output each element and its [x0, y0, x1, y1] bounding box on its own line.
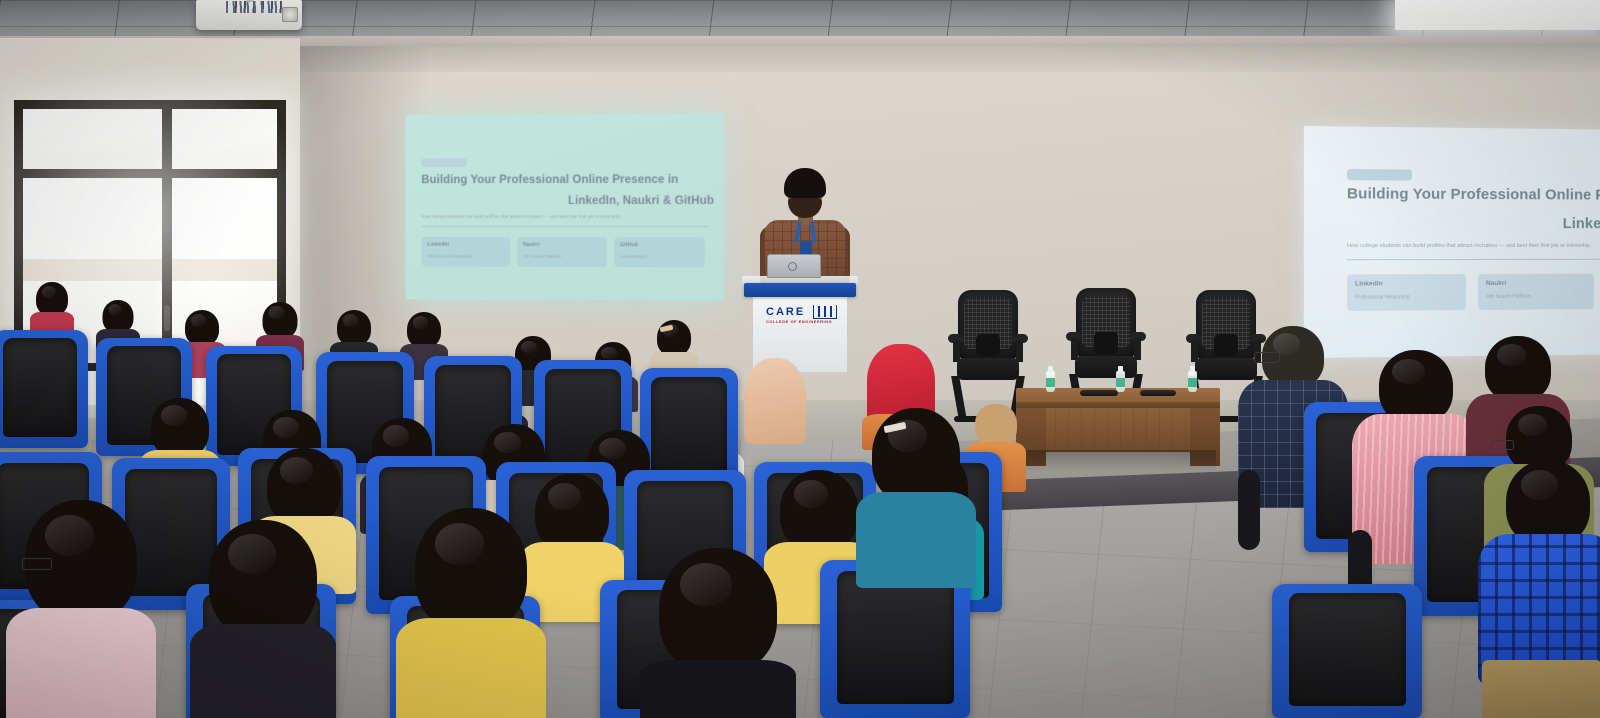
trousers	[1482, 660, 1600, 718]
audience-member-blue-plaid	[1478, 460, 1600, 718]
slide-card-title: GitHub	[620, 242, 638, 248]
head	[151, 398, 209, 458]
podium-blue-band	[744, 283, 856, 297]
college-name: CARE	[766, 306, 805, 318]
bottle-cap	[1048, 366, 1053, 372]
slide-card-title: Naukri	[1486, 280, 1506, 287]
speaker-beard	[788, 198, 822, 218]
window-mullion-horizontal	[23, 169, 277, 178]
chair-seat	[1075, 356, 1137, 378]
slide-badge	[421, 158, 466, 167]
projected-slide-left: Building Your Professional Online Presen…	[406, 113, 724, 301]
window-pane	[23, 109, 162, 169]
head	[407, 312, 441, 348]
projector-lens-icon	[282, 7, 298, 22]
slide-title-line2: LinkedIn, Naukri & GitHub	[568, 195, 714, 207]
audience-member	[190, 520, 336, 718]
window-handle[interactable]	[164, 305, 170, 331]
head	[263, 302, 298, 339]
chair-lumbar-support	[976, 334, 1000, 356]
slide-card-desc: Professional Networking	[427, 254, 472, 259]
eyeglasses	[1490, 440, 1514, 450]
head	[659, 548, 777, 674]
head	[267, 448, 341, 526]
microphone[interactable]	[1080, 390, 1118, 396]
slide-divider	[1347, 259, 1600, 261]
head	[872, 408, 960, 504]
slide-card-desc: Professional Networking	[1355, 294, 1410, 300]
head	[209, 520, 317, 638]
slide-card-title: Naukri	[523, 242, 540, 248]
slide-card-title: LinkedIn	[427, 242, 449, 248]
ceiling-projector	[196, 0, 302, 30]
chair-seat	[957, 358, 1019, 380]
table-shadow	[1020, 450, 1216, 472]
audience-member-peach-hijab	[740, 358, 810, 454]
building-icon	[813, 305, 837, 319]
window-pane	[171, 109, 277, 169]
window-frost-band	[23, 259, 277, 281]
slide-divider	[421, 226, 709, 227]
bottle-label	[1116, 378, 1125, 387]
wall-soffit	[300, 46, 1600, 72]
slide-card-desc: Job Search Platform	[523, 254, 561, 259]
chair-armrest	[1238, 470, 1260, 550]
slide-card-desc: Code Portfolio	[620, 254, 647, 259]
stage-table	[1016, 388, 1220, 474]
water-bottle[interactable]	[1046, 366, 1055, 392]
speaker-hair	[784, 168, 826, 198]
head	[36, 282, 68, 316]
slide-title-line1: Building Your Professional Online Presen…	[421, 174, 678, 186]
torso	[396, 618, 546, 718]
audience-member-glasses	[6, 500, 156, 718]
audience-member	[396, 508, 546, 718]
slide-subtitle: How college students can build profiles …	[421, 214, 621, 219]
slide-subtitle: How college students can build profiles …	[1347, 243, 1592, 249]
chair-lumbar-support	[1094, 332, 1118, 354]
torso	[6, 608, 156, 718]
lanyard-badge	[800, 241, 812, 255]
bottle-label	[1046, 378, 1055, 387]
college-tagline: COLLEGE OF ENGINEERING	[766, 319, 832, 324]
college-logo: CARE COLLEGE OF ENGINEERING	[766, 306, 840, 330]
presenter-laptop[interactable]	[764, 254, 824, 280]
head	[780, 470, 858, 552]
eyeglasses	[22, 558, 52, 570]
bottle-cap	[1190, 366, 1195, 372]
hijab	[744, 358, 806, 444]
projector-cables	[226, 1, 282, 13]
laptop-brand-icon	[788, 262, 797, 271]
head	[1485, 336, 1551, 402]
chair-lumbar-support	[1214, 334, 1238, 356]
audience-member-hairclip	[856, 408, 976, 584]
bottle-cap	[1118, 366, 1123, 372]
projected-slide-right: Building Your Professional Online Presen…	[1304, 126, 1600, 358]
slide-title-line1: Building Your Professional Online Presen…	[1347, 185, 1600, 204]
head	[657, 320, 691, 356]
slide-badge	[1347, 169, 1412, 181]
head	[415, 508, 527, 632]
water-bottle[interactable]	[1116, 366, 1125, 392]
torso	[856, 492, 976, 588]
auditorium-chair[interactable]	[1272, 584, 1422, 718]
auditorium-chair[interactable]	[0, 330, 88, 448]
seminar-hall-photo: Building Your Professional Online Presen…	[0, 0, 1600, 718]
torso	[640, 660, 796, 718]
bottle-label	[1188, 378, 1197, 387]
microphone[interactable]	[1140, 390, 1176, 396]
slide-card-desc: Job Search Platform	[1486, 294, 1531, 300]
torso	[190, 624, 336, 718]
water-bottle[interactable]	[1188, 366, 1197, 392]
head	[535, 474, 609, 552]
slide-card-title: LinkedIn	[1355, 280, 1383, 287]
head	[337, 310, 371, 346]
slide-title-line2: LinkedIn, Naukri & GitHub	[1563, 215, 1600, 232]
head	[1379, 350, 1453, 424]
audience-member	[640, 548, 796, 718]
projector-mount	[246, 0, 253, 2]
eyeglasses	[1254, 352, 1280, 363]
ceiling-light-panel	[1395, 0, 1600, 30]
